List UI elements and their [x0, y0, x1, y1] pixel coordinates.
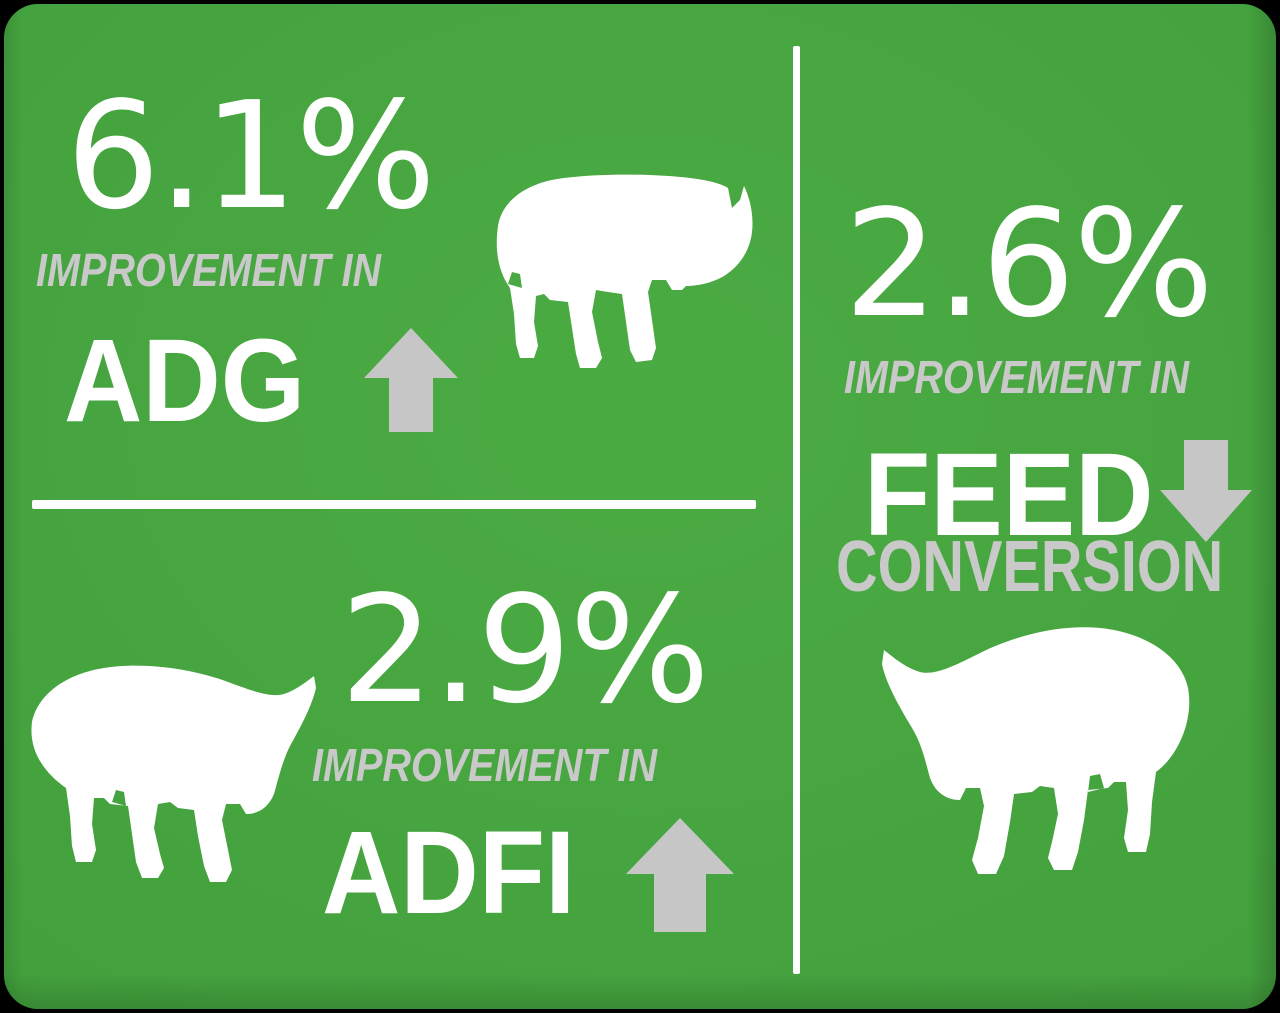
adfi-metric-label: ADFI: [322, 814, 575, 932]
adg-value: 6.1%: [66, 82, 434, 230]
arrow-up-icon: [624, 816, 736, 934]
feed-conversion-metric-line2: CONVERSION: [836, 531, 1223, 603]
feed-conversion-sub-label: IMPROVEMENT IN: [844, 354, 1189, 400]
pig-grazing-left-icon: [866, 616, 1202, 884]
horizontal-divider: [32, 500, 756, 509]
infographic-root: 6.1% IMPROVEMENT IN ADG 2.9% IMPROVEMENT…: [0, 0, 1280, 1013]
green-panel: 6.1% IMPROVEMENT IN ADG 2.9% IMPROVEMENT…: [4, 4, 1276, 1009]
adfi-sub-label: IMPROVEMENT IN: [312, 742, 657, 788]
feed-conversion-value: 2.6%: [844, 190, 1212, 338]
adg-metric-label: ADG: [64, 322, 305, 440]
pig-grazing-right-icon: [18, 654, 328, 904]
adg-sub-label: IMPROVEMENT IN: [36, 247, 381, 293]
pig-standing-icon: [476, 162, 776, 392]
vertical-divider: [793, 46, 800, 974]
arrow-up-icon: [362, 326, 460, 434]
adfi-value: 2.9%: [340, 576, 708, 724]
